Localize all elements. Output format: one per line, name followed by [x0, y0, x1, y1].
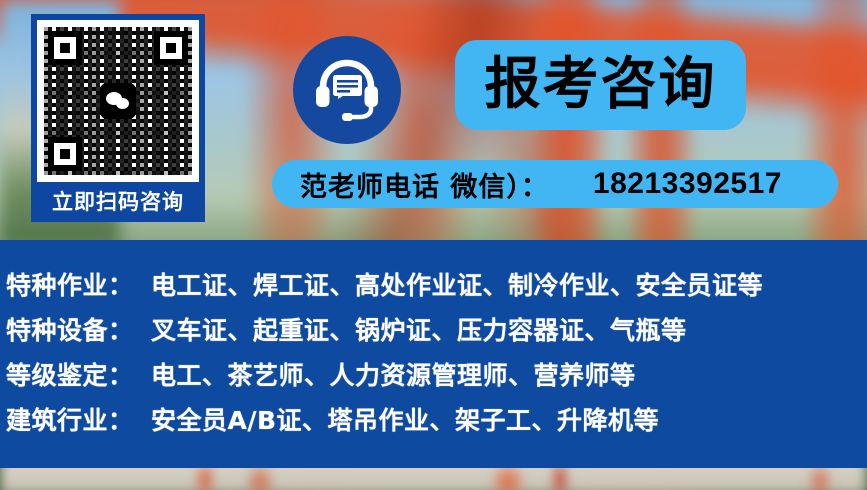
wechat-icon	[100, 83, 136, 119]
contact-label: 范老师电话 微信）：	[300, 165, 549, 204]
list-item: 特种作业： 电工证、焊工证、高处作业证、制冷作业、安全员证等	[6, 266, 867, 311]
qr-code-area[interactable]	[37, 20, 199, 182]
qr-finder-bottom-left	[48, 137, 82, 171]
list-item: 等级鉴定： 电工、茶艺师、人力资源管理师、营养师等	[6, 356, 867, 401]
list-item-label: 特种作业：	[6, 266, 151, 302]
headset-chat-icon	[310, 53, 384, 127]
list-item: 建筑行业： 安全员A/B证、塔吊作业、架子工、升降机等	[6, 401, 867, 446]
wechat-bubble-small	[116, 98, 129, 109]
course-list-panel: 特种作业： 电工证、焊工证、高处作业证、制冷作业、安全员证等 特种设备： 叉车证…	[0, 240, 867, 468]
list-item-label: 特种设备：	[6, 311, 151, 347]
list-item-label: 建筑行业：	[6, 401, 151, 437]
qr-panel[interactable]: 立即扫码咨询	[31, 14, 205, 222]
list-item-label: 等级鉴定：	[6, 356, 151, 392]
list-item-value: 叉车证、起重证、锅炉证、压力容器证、气瓶等	[151, 311, 687, 347]
qr-caption: 立即扫码咨询	[52, 182, 184, 219]
headset-badge	[293, 36, 401, 144]
list-item-value: 电工证、焊工证、高处作业证、制冷作业、安全员证等	[151, 266, 763, 302]
page-title: 报考咨询	[485, 57, 717, 113]
contact-phone-number[interactable]: 18213392517	[593, 167, 782, 201]
qr-code-image	[44, 27, 192, 175]
list-item-value: 安全员A/B证、塔吊作业、架子工、升降机等	[151, 401, 659, 437]
promo-poster: 立即扫码咨询 报考咨询 范老师电话 微信）： 18213392517 特种作业：	[0, 0, 867, 490]
list-item: 特种设备： 叉车证、起重证、锅炉证、压力容器证、气瓶等	[6, 311, 867, 356]
course-list: 特种作业： 电工证、焊工证、高处作业证、制冷作业、安全员证等 特种设备： 叉车证…	[0, 240, 867, 446]
qr-finder-top-right	[154, 31, 188, 65]
title-pill: 报考咨询	[455, 40, 746, 130]
contact-pill[interactable]: 范老师电话 微信）： 18213392517	[272, 160, 838, 208]
qr-finder-top-left	[48, 31, 82, 65]
list-item-value: 电工、茶艺师、人力资源管理师、营养师等	[151, 356, 636, 392]
